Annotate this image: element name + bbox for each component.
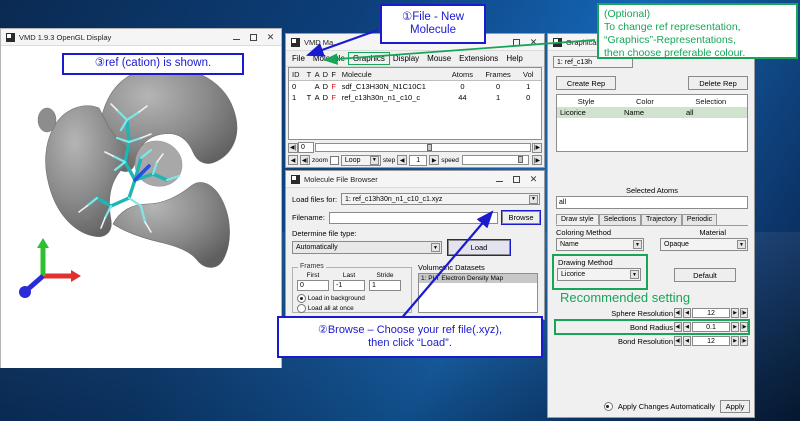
tab-trajectory[interactable]: Trajectory [641,214,682,225]
load-all-at-once-radio[interactable]: Load all at once [297,304,407,313]
row0-id: 0 [289,82,305,91]
drawing-method-label: Drawing Method [558,258,613,267]
opengl-render-canvas[interactable] [1,46,281,368]
sphere-resolution-label: Sphere Resolution [611,309,673,318]
row0-d[interactable]: D [321,82,329,91]
grep-icon [553,38,562,47]
menu-display[interactable]: Display [389,53,423,64]
material-value: Opaque [664,241,689,248]
chevron-down-icon[interactable]: ▼ [370,156,379,165]
bond-resolution-row: Bond Resolution ◀| ◀ 12 ▶ |▶ [556,336,748,346]
last-input[interactable]: -1 [333,280,365,291]
chevron-down-icon[interactable]: ▼ [633,240,642,249]
frames-group-title: Frames [298,263,326,270]
bond-radius-dec-fast-icon[interactable]: ◀| [674,322,682,332]
coloring-method-label: Coloring Method [556,228,611,237]
bond-radius-inc-icon[interactable]: ▶ [731,322,739,332]
menu-molecule[interactable]: Molecule [309,53,349,64]
radio-off-icon [297,304,306,313]
play-forward-icon[interactable]: |▶ [532,155,542,165]
bond-radius-inc-fast-icon[interactable]: |▶ [740,322,748,332]
molecule-selector-value: 1: ref_c13h [557,59,592,66]
opengl-display-window: VMD 1.9.3 OpenGL Display ✕ [0,28,282,368]
load-files-for-value: 1: ref_c13h30n_n1_c10_c1.xyz [345,196,442,203]
determine-file-type-combo[interactable]: Automatically ▼ [292,241,442,254]
vmd-main-window: VMD Ma... ✕ File Molecule Graphics Displ… [285,33,545,168]
frame-track[interactable] [315,143,531,152]
sphere-res-dec-icon[interactable]: ◀ [683,308,691,318]
row1-molecule: ref_c13h30n_n1_c10_c [338,93,444,102]
filename-label: Filename: [292,213,325,222]
row0-a[interactable]: A [313,82,321,91]
rep-col-style: Style [578,97,595,106]
bond-resolution-label: Bond Resolution [618,337,673,346]
rep-table-header: Style Color Selection [557,95,747,107]
callout3-text: ③ref (cation) is shown. [95,57,211,70]
row1-vol: 0 [515,93,541,102]
col-t: T [305,70,313,79]
green-note-line2: To change ref representation, [604,21,791,34]
row0-vol: 1 [515,82,541,91]
list-item[interactable]: 1: PLT Electron Density Map [419,274,537,283]
coloring-method-combo[interactable]: Name ▼ [556,238,644,251]
vmd-main-close-icon[interactable]: ✕ [525,35,542,50]
bond-radius-label: Bond Radius [630,323,673,332]
bond-res-dec-icon[interactable]: ◀ [683,336,691,346]
menu-file[interactable]: File [288,53,309,64]
row1-f[interactable]: F [330,93,338,102]
step-dec-icon[interactable]: ◀ [397,155,407,165]
tab-draw-style[interactable]: Draw style [556,214,599,225]
frame-thumb[interactable] [427,144,432,151]
opengl-title-text: VMD 1.9.3 OpenGL Display [19,33,228,42]
callout2-line2: then click “Load”. [283,337,537,350]
tab-selections[interactable]: Selections [599,214,641,225]
frame-first-icon[interactable]: ◀| [288,143,298,153]
callout-step1: ①File - New Molecule [380,4,486,44]
sphere-res-inc-fast-icon[interactable]: |▶ [740,308,748,318]
row1-t[interactable]: T [305,93,313,102]
axis-indicator [19,238,81,298]
chevron-down-icon[interactable]: ▼ [529,195,538,204]
bond-resolution-value[interactable]: 12 [692,336,730,346]
zoom-checkbox[interactable] [330,156,339,165]
rep-col-selection: Selection [695,97,726,106]
bond-radius-value[interactable]: 0.1 [692,322,730,332]
coloring-method-value: Name [560,241,579,248]
green-note-line4: then choose preferable colour. [604,47,791,60]
load-files-for-combo[interactable]: 1: ref_c13h30n_n1_c10_c1.xyz ▼ [341,193,540,205]
row0-f[interactable]: F [330,82,338,91]
material-combo[interactable]: Opaque ▼ [660,238,748,251]
rep-row-selection: all [686,108,694,117]
molecule-table-header: ID T A D F Molecule Atoms Frames Vol [289,68,541,81]
rep-row-color: Name [624,108,686,117]
fb-close-icon[interactable]: ✕ [525,172,542,187]
stride-input[interactable]: 1 [369,280,401,291]
selected-atoms-label: Selected Atoms [556,186,748,195]
callout1-line1: ①File - New [386,11,480,24]
load-in-background-radio[interactable]: Load in background [297,294,407,303]
determine-file-type-label: Determine file type: [292,229,540,238]
rep-table[interactable]: Style Color Selection Licorice Name all [556,94,748,152]
green-note-line1: (Optional) [604,8,791,21]
speed-thumb[interactable] [518,156,523,163]
col-frames: Frames [481,70,516,79]
apply-auto-checkbox[interactable] [604,402,613,411]
row1-d[interactable]: D [321,93,329,102]
frames-group: Frames First Last Stride 0 -1 1 Load in … [292,267,412,313]
vmd-main-menubar: File Molecule Graphics Display Mouse Ext… [286,51,544,67]
row0-atoms: 0 [444,82,481,91]
table-row[interactable]: 0 A D F sdf_C13H30N_N1C10C1 0 0 1 [289,81,541,92]
drawing-method-value: Licorice [561,271,585,278]
chevron-down-icon[interactable]: ▼ [630,270,639,279]
frame-slider[interactable]: ◀| 0 |▶ [288,142,542,153]
menu-help[interactable]: Help [502,53,526,64]
bond-res-dec-fast-icon[interactable]: ◀| [674,336,682,346]
browse-button[interactable]: Browse [502,211,540,224]
vmd-main-icon [291,38,300,47]
green-note-line3: “Graphics”-Representations, [604,34,791,47]
sphere-resolution-value[interactable]: 12 [692,308,730,318]
close-icon[interactable]: ✕ [262,30,279,45]
callout-step3: ③ref (cation) is shown. [62,53,244,75]
tab-periodic[interactable]: Periodic [682,214,717,225]
col-molecule: Molecule [338,70,444,79]
row1-id: 1 [289,93,305,102]
step-label: step [383,157,395,164]
bond-res-inc-icon[interactable]: ▶ [731,336,739,346]
table-row[interactable]: 1 T A D F ref_c13h30n_n1_c10_c 44 1 0 [289,92,541,103]
volumetric-datasets-list[interactable]: 1: PLT Electron Density Map [418,273,538,313]
animation-toolbar: ◀| 0 |▶ ◀ ◀| zoom Loop ▼ step ◀ 1 ▶ spee… [288,142,542,166]
fb-minimize-icon[interactable] [491,172,508,187]
loop-mode-combo[interactable]: Loop ▼ [341,155,381,166]
molecular-scene [1,46,281,368]
menu-mouse[interactable]: Mouse [423,53,455,64]
filename-input[interactable] [329,212,498,224]
callout2-line1: ②Browse – Choose your ref file(.xyz), [283,324,537,337]
frame-last-icon[interactable]: |▶ [532,143,542,153]
create-rep-button[interactable]: Create Rep [556,76,616,90]
row1-atoms: 44 [444,93,481,102]
opengl-titlebar: VMD 1.9.3 OpenGL Display ✕ [1,29,281,46]
minimize-icon[interactable] [228,30,245,45]
rep-tabs: Draw style Selections Trajectory Periodi… [556,214,748,226]
material-label: Material [699,228,726,237]
callout1-line2: Molecule [386,24,480,37]
col-a: A [313,70,321,79]
delete-rep-button[interactable]: Delete Rep [688,76,748,90]
menu-graphics[interactable]: Graphics [349,53,389,64]
callout-step2: ②Browse – Choose your ref file(.xyz), th… [277,316,543,358]
first-label: First [297,272,329,279]
molecule-file-browser-window: Molecule File Browser ✕ Load files for: … [285,170,545,320]
file-browser-icon [291,175,300,184]
file-browser-title-text: Molecule File Browser [304,175,491,184]
vmd-main-maximize-icon[interactable] [508,35,525,50]
drawing-method-combo[interactable]: Licorice ▼ [557,268,641,281]
row1-frames: 1 [481,93,516,102]
last-label: Last [333,272,365,279]
menu-extensions[interactable]: Extensions [455,53,502,64]
selected-atoms-input[interactable]: all [556,196,748,209]
animation-controls: ◀ ◀| zoom Loop ▼ step ◀ 1 ▶ speed |▶ [288,154,542,166]
graphical-representations-window: Graphical R 1: ref_c13h Create Rep Delet… [547,33,755,418]
load-all-at-once-label: Load all at once [308,305,354,312]
fb-maximize-icon[interactable] [508,172,525,187]
row0-molecule: sdf_C13H30N_N1C10C1 [338,82,444,91]
rep-row-style: Licorice [557,108,624,117]
chevron-down-icon[interactable]: ▼ [431,243,440,252]
optional-green-note: (Optional) To change ref representation,… [597,3,798,59]
vmd-app-icon [6,33,15,42]
load-files-for-label: Load files for: [292,195,337,204]
speed-label: speed [441,157,459,164]
col-d: D [321,70,329,79]
sphere-res-inc-icon[interactable]: ▶ [731,308,739,318]
loop-mode-value: Loop [345,157,361,164]
row1-a[interactable]: A [313,93,321,102]
speed-track[interactable] [462,155,529,165]
apply-auto-label: Apply Changes Automatically [618,402,715,411]
zoom-label: zoom [312,157,328,164]
step-value[interactable]: 1 [409,155,427,166]
table-row[interactable]: Licorice Name all [557,107,747,118]
bond-radius-dec-icon[interactable]: ◀ [683,322,691,332]
rep-col-color: Color [636,97,654,106]
radio-on-icon [297,294,306,303]
load-in-background-label: Load in background [308,295,365,302]
default-button[interactable]: Default [674,268,736,282]
file-browser-titlebar: Molecule File Browser ✕ [286,171,544,188]
bond-res-inc-fast-icon[interactable]: |▶ [740,336,748,346]
maximize-icon[interactable] [245,30,262,45]
col-atoms: Atoms [444,70,481,79]
sphere-resolution-row: Sphere Resolution ◀| ◀ 12 ▶ |▶ [556,308,748,318]
col-f: F [330,70,338,79]
step-back-icon[interactable]: ◀| [300,155,310,165]
load-button[interactable]: Load [448,240,510,255]
first-input[interactable]: 0 [297,280,329,291]
chevron-down-icon[interactable]: ▼ [737,240,746,249]
stride-label: Stride [369,272,401,279]
play-reverse-icon[interactable]: ◀ [288,155,298,165]
sphere-res-dec-fast-icon[interactable]: ◀| [674,308,682,318]
recommended-setting-note: Recommended setting [560,290,750,305]
frame-value[interactable]: 0 [298,142,314,153]
col-id: ID [289,70,305,79]
step-inc-icon[interactable]: ▶ [429,155,439,165]
determine-file-type-value: Automatically [296,244,338,251]
row0-frames: 0 [481,82,516,91]
apply-button[interactable]: Apply [720,400,750,413]
volumetric-datasets-label: Volumetric Datasets [418,263,538,272]
molecule-list-table[interactable]: ID T A D F Molecule Atoms Frames Vol 0 A… [288,67,542,140]
col-vol: Vol [515,70,541,79]
bond-radius-row: Bond Radius ◀| ◀ 0.1 ▶ |▶ [556,321,748,333]
